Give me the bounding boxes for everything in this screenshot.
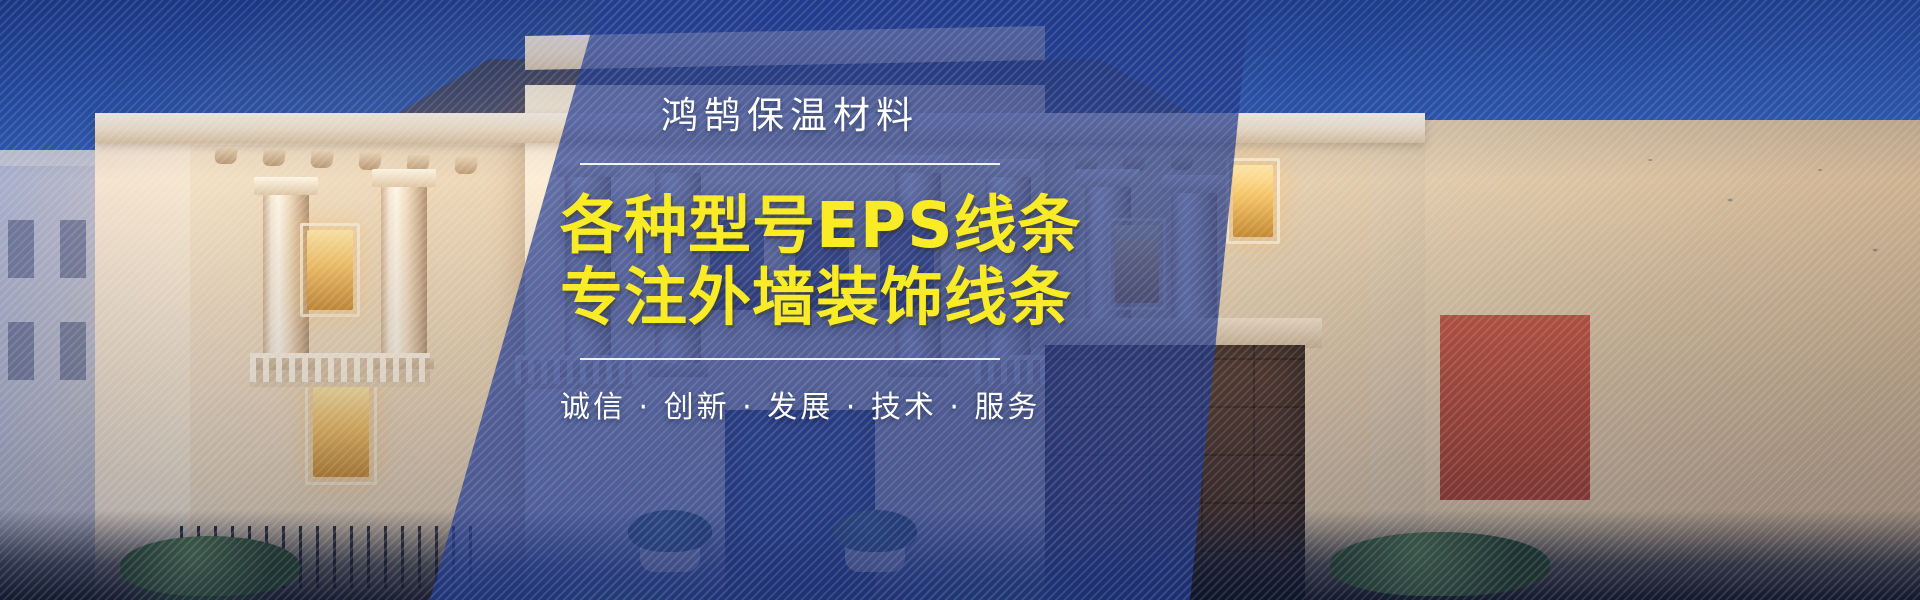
banner-copy: 鸿鹄保温材料 各种型号EPS线条 专注外墙装饰线条 诚信 · 创新 · 发展 ·…: [560, 96, 1020, 426]
headline-line-2: 专注外墙装饰线条: [560, 263, 1020, 334]
divider-top: [580, 163, 1000, 165]
headline-line-1: 各种型号EPS线条: [560, 191, 1020, 262]
hero-banner: 鸿鹄保温材料 各种型号EPS线条 专注外墙装饰线条 诚信 · 创新 · 发展 ·…: [0, 0, 1920, 600]
divider-bottom: [580, 358, 1000, 360]
tagline: 诚信 · 创新 · 发展 · 技术 · 服务: [560, 382, 1020, 426]
brand-subtitle: 鸿鹄保温材料: [560, 96, 1020, 137]
